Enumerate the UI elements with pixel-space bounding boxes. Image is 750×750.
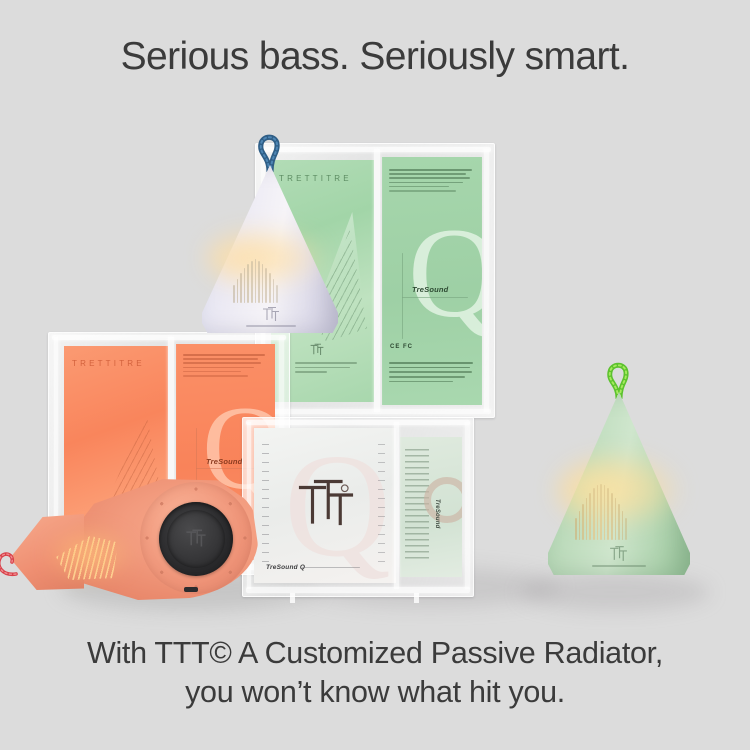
product-cone-lavender [202, 165, 338, 333]
package-green-rail-right [484, 149, 489, 412]
cone-lavender-grille [233, 259, 307, 303]
package-white-tick-scale-right [378, 444, 385, 564]
package-white-panel-side: TreSound [400, 437, 462, 577]
shadow-right [520, 573, 710, 611]
package-white-product-name: TreSound Q [266, 564, 305, 571]
package-green-rule-v [402, 253, 403, 339]
package-green-product-name: TreSound [412, 285, 448, 294]
package-white-rail-top [246, 420, 470, 425]
page-headline-top: Serious bass. Seriously smart. [0, 34, 750, 80]
cone-lavender-caption [246, 325, 296, 327]
package-green-legal-text [389, 362, 475, 385]
package-white-foot-right [414, 593, 419, 603]
package-white-rail-mid [394, 422, 399, 589]
cone-mint-ttt-logo [608, 544, 629, 562]
product-photo: TRETTITRE [0, 95, 750, 640]
package-green-left-finetext [295, 362, 357, 376]
package-green-spec-block [389, 169, 475, 194]
product-cone-coral [58, 470, 258, 600]
package-green-rail-mid [374, 149, 380, 412]
page-headline-bottom: With TTT© A Customized Passive Radiator,… [0, 634, 750, 712]
package-white-foot-left [290, 593, 295, 603]
package-white-rail-right [465, 422, 470, 589]
package-green-certifications: CE FC [390, 344, 413, 350]
lanyard-coral [0, 548, 20, 578]
package-orange-product-name: TreSound [206, 457, 242, 466]
headline-bottom-line-1: With TTT© A Customized Passive Radiator, [0, 634, 750, 672]
package-white-side-ring [424, 477, 462, 523]
package-orange-spec-block [183, 354, 268, 379]
cone-mint-caption [592, 565, 646, 567]
package-green-rule-h [402, 297, 468, 298]
product-cone-mint [548, 392, 690, 575]
package-white-panel-front: Q TreSound Q [254, 428, 396, 583]
cone-coral-light-glow [44, 526, 134, 582]
cone-mint-grille [575, 484, 663, 540]
package-orange-wordmark: TRETTITRE [72, 359, 145, 368]
headline-bottom-line-2: you won’t know what hit you. [0, 672, 750, 712]
package-white-ttt-logo [296, 475, 356, 527]
cone-coral-usb-port [184, 587, 198, 592]
package-white-tick-scale [262, 444, 269, 564]
cone-coral-radiator-ttt-logo [184, 527, 208, 548]
package-white-rail-bottom [246, 587, 470, 593]
cone-lavender-ttt-logo [261, 305, 281, 322]
package-white-side-product-name: TreSound [434, 499, 440, 529]
package-green-q-letter: Q [408, 209, 482, 337]
package-white: Q TreSound Q TreSound [242, 417, 474, 597]
package-green-panel-right: Q TreSound CE FC [382, 157, 482, 405]
package-green-ttt-logo [309, 342, 325, 356]
